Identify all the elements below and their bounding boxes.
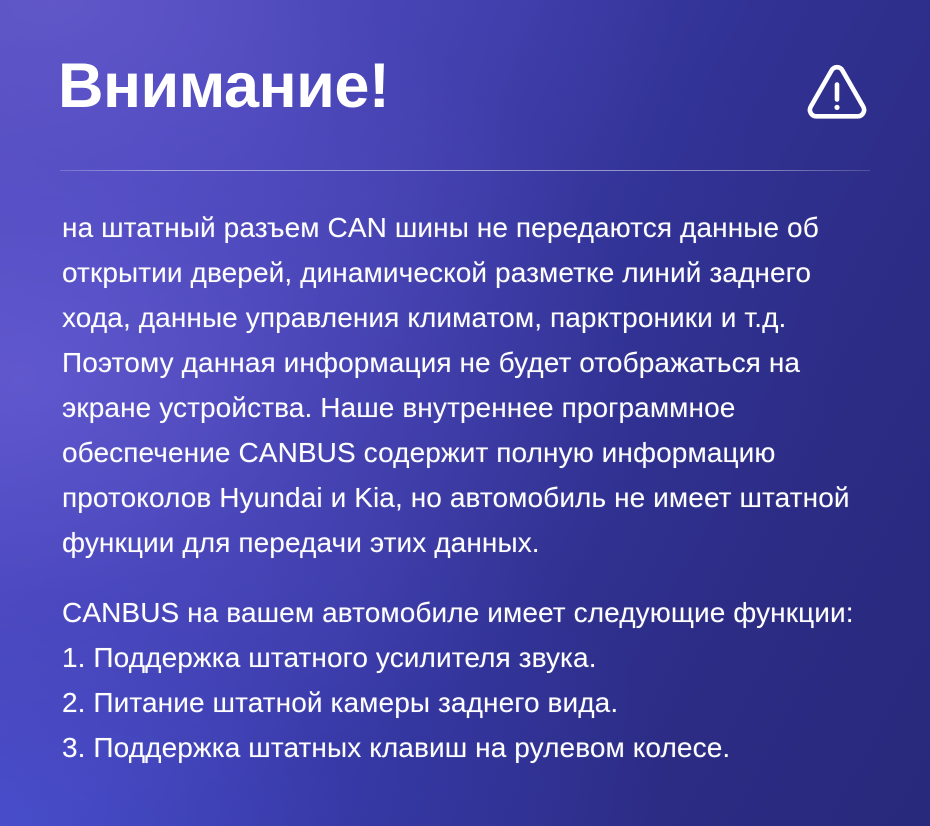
paragraph-line: обеспечение CANBUS содержит полную инфор…: [62, 430, 882, 475]
paragraph-can-bus-limitations: на штатный разъем CAN шины не передаются…: [62, 205, 882, 565]
header-divider: [60, 170, 870, 171]
banner-body: на штатный разъем CAN шины не передаются…: [62, 205, 882, 770]
paragraph-line: CANBUS на вашем автомобиле имеет следующ…: [62, 590, 882, 635]
paragraph-spacer: [62, 565, 882, 590]
list-item: 2. Питание штатной камеры заднего вида.: [62, 680, 882, 725]
page-title: Внимание!: [58, 44, 389, 128]
paragraph-line: протоколов Hyundai и Kia, но автомобиль …: [62, 475, 882, 520]
paragraph-line: хода, данные управления климатом, парктр…: [62, 295, 882, 340]
paragraph-line: экране устройства. Наше внутреннее прогр…: [62, 385, 882, 430]
paragraph-canbus-features-intro: CANBUS на вашем автомобиле имеет следующ…: [62, 590, 882, 635]
paragraph-line: открытии дверей, динамической разметке л…: [62, 250, 882, 295]
banner-header: Внимание!: [0, 0, 930, 172]
paragraph-line: Поэтому данная информация не будет отобр…: [62, 340, 882, 385]
list-item: 3. Поддержка штатных клавиш на рулевом к…: [62, 725, 882, 770]
list-item: 1. Поддержка штатного усилителя звука.: [62, 635, 882, 680]
warning-triangle-icon: [806, 62, 868, 120]
paragraph-line: на штатный разъем CAN шины не передаются…: [62, 205, 882, 250]
warning-banner: Внимание! на штатный разъем CAN шины не …: [0, 0, 930, 826]
canbus-features-list: 1. Поддержка штатного усилителя звука. 2…: [62, 635, 882, 770]
paragraph-line: функции для передачи этих данных.: [62, 520, 882, 565]
